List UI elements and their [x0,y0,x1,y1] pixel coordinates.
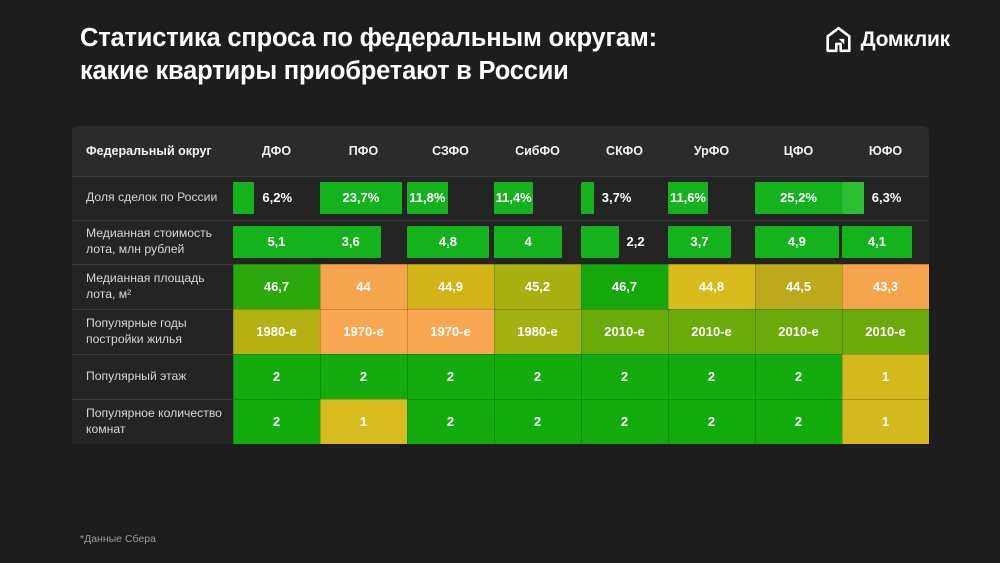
cell-цфо: 2010-е [755,309,842,354]
bar-value: 6,2% [262,182,292,214]
row-label: Медианная стоимость лота, млн рублей [72,220,233,264]
column-header-пфо: ПФО [320,126,407,176]
cell-пфо: 23,7% [320,176,407,220]
bar-container: 23,7% [320,182,407,214]
column-header-дфо: ДФО [233,126,320,176]
bar-container: 11,6% [668,182,755,214]
bar-container: 3,7% [581,182,668,214]
house-logo-icon [825,26,852,53]
cell-скфо: 2 [581,354,668,399]
table-row: Популярное количество комнат21222221 [72,399,929,444]
row-label: Популярное количество комнат [72,399,233,444]
brand-name: Домклик [861,28,950,52]
bar-container: 5,1 [233,226,320,258]
cell-дфо: 5,1 [233,220,320,264]
cell-сибфо: 2 [494,399,581,444]
cell-урфо: 44,8 [668,264,755,309]
bar-value: 6,3% [872,182,902,214]
bar-container: 6,2% [233,182,320,214]
bar-value: 4,1 [842,226,912,258]
table-row: Популярный этаж22222221 [72,354,929,399]
infographic-canvas: Статистика спроса по федеральным округам… [0,0,1000,563]
bar-value: 3,7 [668,226,731,258]
cell-пфо: 1 [320,399,407,444]
cell-урфо: 11,6% [668,176,755,220]
footnote: *Данные Сбера [80,533,156,545]
bar-value: 11,6% [668,182,708,214]
cell-скфо: 46,7 [581,264,668,309]
cell-сибфо: 2 [494,354,581,399]
cell-пфо: 1970-е [320,309,407,354]
cell-сзфо: 1970-е [407,309,494,354]
cell-сзфо: 4,8 [407,220,494,264]
bar-value: 25,2% [755,182,842,214]
cell-скфо: 2 [581,399,668,444]
cell-урфо: 3,7 [668,220,755,264]
bar-value: 2,2 [627,226,645,258]
bar [842,182,864,214]
cell-скфо: 2010-е [581,309,668,354]
bar-value: 11,4% [494,182,533,214]
cell-дфо: 2 [233,399,320,444]
bar-container: 3,7 [668,226,755,258]
column-header-цфо: ЦФО [755,126,842,176]
cell-юфо: 6,3% [842,176,929,220]
cell-сибфо: 45,2 [494,264,581,309]
cell-скфо: 2,2 [581,220,668,264]
cell-дфо: 6,2% [233,176,320,220]
cell-дфо: 1980-е [233,309,320,354]
bar-container: 4 [494,226,581,258]
bar-value: 4 [494,226,562,258]
cell-цфо: 25,2% [755,176,842,220]
cell-урфо: 2 [668,399,755,444]
bar-container: 25,2% [755,182,842,214]
bar [581,182,594,214]
cell-скфо: 3,7% [581,176,668,220]
bar-value: 4,9 [755,226,839,258]
bar-container: 6,3% [842,182,929,214]
column-header-урфо: УрФО [668,126,755,176]
column-header-label: Федеральный округ [72,126,233,176]
cell-юфо: 2010-е [842,309,929,354]
bar-value: 23,7% [320,182,402,214]
bar-container: 3,6 [320,226,407,258]
cell-сзфо: 2 [407,354,494,399]
cell-сзфо: 44,9 [407,264,494,309]
cell-юфо: 1 [842,399,929,444]
cell-сибфо: 4 [494,220,581,264]
cell-цфо: 44,5 [755,264,842,309]
cell-пфо: 2 [320,354,407,399]
stats-table: Федеральный округ ДФОПФОСЗФОСибФОСКФОУрФ… [72,126,930,445]
row-label: Доля сделок по России [72,176,233,220]
bar [233,182,254,214]
bar-value: 11,8% [407,182,448,214]
bar-container: 4,1 [842,226,929,258]
cell-сибфо: 1980-е [494,309,581,354]
cell-дфо: 46,7 [233,264,320,309]
row-label: Популярные годы постройки жилья [72,309,233,354]
cell-сзфо: 11,8% [407,176,494,220]
bar-value: 4,8 [407,226,489,258]
cell-сибфо: 11,4% [494,176,581,220]
cell-сзфо: 2 [407,399,494,444]
table-body: Доля сделок по России6,2%23,7%11,8%11,4%… [72,176,929,444]
cell-цфо: 2 [755,399,842,444]
cell-цфо: 2 [755,354,842,399]
cell-урфо: 2010-е [668,309,755,354]
table-row: Медианная стоимость лота, млн рублей5,13… [72,220,929,264]
table-head: Федеральный округ ДФОПФОСЗФОСибФОСКФОУрФ… [72,126,929,176]
bar-value: 3,6 [320,226,381,258]
brand-logo: Домклик [825,26,950,53]
cell-урфо: 2 [668,354,755,399]
bar-container: 4,8 [407,226,494,258]
cell-пфо: 3,6 [320,220,407,264]
bar-container: 2,2 [581,226,668,258]
cell-дфо: 2 [233,354,320,399]
bar-value: 3,7% [602,182,632,214]
table-row: Доля сделок по России6,2%23,7%11,8%11,4%… [72,176,929,220]
cell-юфо: 43,3 [842,264,929,309]
cell-юфо: 4,1 [842,220,929,264]
table-row: Популярные годы постройки жилья1980-е197… [72,309,929,354]
row-label: Популярный этаж [72,354,233,399]
table-row: Медианная площадь лота, м²46,74444,945,2… [72,264,929,309]
bar-value: 5,1 [233,226,320,258]
column-header-сзфо: СЗФО [407,126,494,176]
bar [581,226,619,258]
header-row: Федеральный округ ДФОПФОСЗФОСибФОСКФОУрФ… [72,126,929,176]
row-label: Медианная площадь лота, м² [72,264,233,309]
column-header-юфо: ЮФО [842,126,929,176]
cell-цфо: 4,9 [755,220,842,264]
cell-пфо: 44 [320,264,407,309]
column-header-скфо: СКФО [581,126,668,176]
bar-container: 11,8% [407,182,494,214]
cell-юфо: 1 [842,354,929,399]
bar-container: 11,4% [494,182,581,214]
bar-container: 4,9 [755,226,842,258]
column-header-сибфо: СибФО [494,126,581,176]
